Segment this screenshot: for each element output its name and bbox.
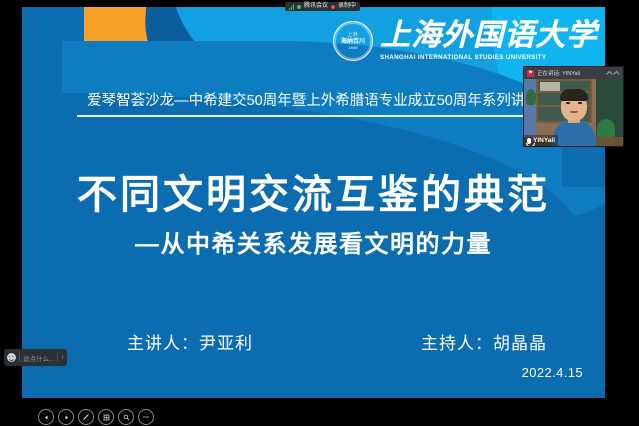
meeting-app-label: 腾讯会议 [304, 2, 328, 11]
more-options-button[interactable] [138, 409, 154, 425]
slide-banner-rule [77, 115, 551, 117]
meeting-screen: 腾讯会议 录制中 上外 海纳百川 1949 上海外国语大学 SHANGHAI I… [0, 0, 639, 426]
emoji-smiley-icon[interactable] [7, 353, 16, 362]
record-dot-icon [331, 5, 335, 9]
pen-annotate-button[interactable] [78, 409, 94, 425]
active-speaker-label: 正在讲话: YINYali [537, 69, 580, 77]
shared-slide[interactable]: 上外 海纳百川 1949 上海外国语大学 SHANGHAI INTERNATIO… [22, 7, 605, 398]
slide-speaker-label: 主讲人：尹亚利 [127, 329, 253, 354]
slide-banner: 爱琴智荟沙龙—中希建交50周年暨上外希腊语专业成立50周年系列讲座 [22, 89, 605, 117]
signal-bars-icon [289, 4, 294, 10]
university-name-cn: 上海外国语大学 [380, 21, 597, 51]
video-tile-header: ⚑ 正在讲话: YINYali [524, 67, 623, 79]
collapse-chevrons-icon[interactable] [606, 70, 620, 76]
recording-status-pill[interactable]: 腾讯会议 录制中 [285, 2, 360, 11]
university-logo: 上外 海纳百川 1949 上海外国语大学 SHANGHAI INTERNATIO… [333, 21, 597, 61]
slide-people-row: 主讲人：尹亚利 主持人：胡晶晶 [127, 329, 547, 354]
video-tile-video: YINYali [524, 79, 623, 146]
seal-mid-text: 海纳百川 [341, 39, 365, 45]
university-seal-icon: 上外 海纳百川 1949 [333, 21, 373, 61]
slide-title-sub: —从中希关系发展看文明的力量 [22, 224, 605, 259]
chat-input-stub[interactable]: 说点什么... ‹ [4, 349, 67, 366]
seal-top-text: 上外 [347, 33, 358, 38]
chevron-left-icon[interactable]: ‹ [61, 354, 63, 361]
slide-date: 2022.4.15 [522, 365, 583, 380]
participant-name: YINYali [533, 137, 555, 144]
participant-hair [560, 89, 588, 101]
recording-status-label: 录制中 [338, 2, 356, 11]
zoom-magnifier-button[interactable] [118, 409, 134, 425]
green-dot-icon [297, 5, 301, 9]
chat-divider [19, 353, 20, 362]
slide-title-main: 不同文明交流互鉴的典范 [22, 162, 605, 220]
participant-eye-left [566, 102, 570, 104]
participant-eye-right [578, 102, 582, 104]
chat-divider-2 [57, 353, 58, 362]
video-bg-books-1 [540, 82, 560, 91]
slide-banner-text: 爱琴智荟沙龙—中希建交50周年暨上外希腊语专业成立50周年系列讲座 [22, 89, 605, 110]
slide-host-label: 主持人：胡晶晶 [421, 329, 547, 354]
video-bg-plant-right [597, 119, 615, 139]
flag-icon: ⚑ [527, 70, 534, 77]
next-slide-button[interactable] [58, 409, 74, 425]
microphone-icon [527, 138, 531, 144]
participant-video-tile[interactable]: ⚑ 正在讲话: YINYali [523, 66, 624, 147]
slide-control-bar [38, 409, 154, 425]
previous-slide-button[interactable] [38, 409, 54, 425]
participant-name-badge: YINYali [524, 135, 558, 146]
university-name-en: SHANGHAI INTERNATIONAL STUDIES UNIVERSIT… [380, 54, 597, 61]
chat-placeholder: 说点什么... [23, 353, 54, 363]
slide-grid-button[interactable] [98, 409, 114, 425]
participant-mouth [570, 111, 578, 113]
seal-year-text: 1949 [349, 46, 358, 50]
video-bg-plant-left [526, 89, 536, 105]
